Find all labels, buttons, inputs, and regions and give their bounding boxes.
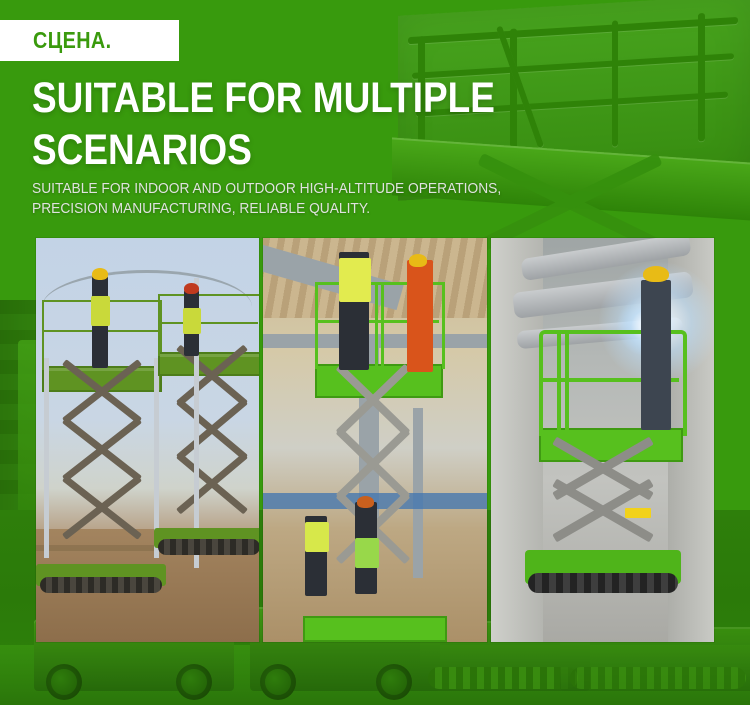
gallery-photo-warehouse-lift[interactable] — [263, 238, 486, 642]
worker-helmet — [357, 496, 374, 508]
worker-figure — [641, 280, 671, 430]
warning-sticker — [625, 508, 651, 518]
page-subtitle-line-1: SUITABLE FOR INDOOR AND OUTDOOR HIGH-ALT… — [32, 179, 621, 199]
cage-rail-vertical — [698, 13, 705, 141]
page-subtitle-line-2: PRECISION MANUFACTURING, RELIABLE QUALIT… — [32, 199, 621, 219]
worker-hi-vis-vest — [305, 522, 329, 552]
cage-rail-vertical — [612, 20, 618, 146]
worker-helmet — [92, 268, 108, 280]
worker-hi-vis-vest — [183, 308, 201, 334]
cage-rail-horizontal — [408, 17, 738, 44]
page-title-line-2: SCENARIOS — [32, 124, 600, 176]
page-title-line-1: SUITABLE FOR MULTIPLE — [32, 72, 600, 124]
worker-figure — [407, 260, 433, 372]
section-eyebrow-label: СЦЕНА. — [33, 29, 112, 52]
gallery-photo-outdoor-twin-lifts[interactable] — [36, 238, 259, 642]
worker-helmet — [643, 266, 669, 282]
page-title: SUITABLE FOR MULTIPLE SCENARIOS — [32, 72, 600, 176]
section-eyebrow-badge: СЦЕНА. — [0, 20, 179, 61]
promo-banner: СЦЕНА. SUITABLE FOR MULTIPLE SCENARIOS S… — [0, 0, 750, 705]
worker-hi-vis-vest — [339, 258, 371, 302]
worker-hi-vis-vest — [355, 538, 379, 568]
worker-helmet — [184, 283, 199, 294]
gallery-photo-indoor-welding[interactable] — [491, 238, 714, 642]
worker-helmet — [409, 254, 427, 267]
worker-hi-vis-vest — [91, 296, 110, 326]
photo-gallery — [36, 238, 714, 642]
page-subtitle: SUITABLE FOR INDOOR AND OUTDOOR HIGH-ALT… — [32, 179, 621, 219]
